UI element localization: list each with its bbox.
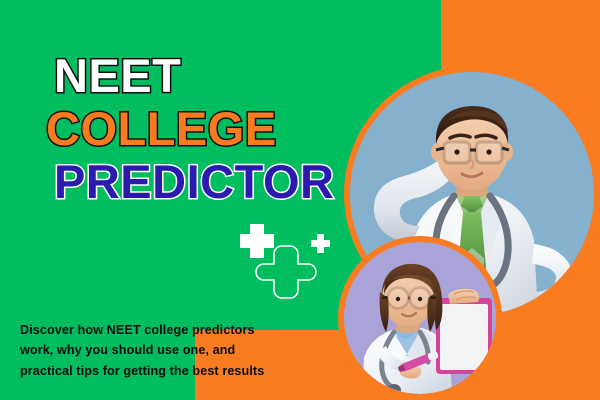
plus-outline-icon [256, 246, 316, 298]
headline-line-college: COLLEGE [46, 105, 376, 152]
subtitle-block: Discover how NEET college predictors wor… [20, 320, 320, 381]
plus-decorations [238, 216, 338, 311]
headline-line-neet: NEET [54, 52, 376, 99]
subtitle-line-3: practical tips for getting the best resu… [20, 361, 320, 381]
headline-block: NEET COLLEGE PREDICTOR [46, 52, 376, 205]
neet-college-predictor-banner: NEET COLLEGE PREDICTOR Discover how NEET… [0, 0, 600, 400]
headline-line-predictor: PREDICTOR [54, 158, 376, 205]
subtitle-line-1: Discover how NEET college predictors [20, 320, 320, 340]
female-doctor-circle [338, 236, 502, 400]
subtitle-line-2: work, why you should use one, and [20, 340, 320, 360]
plus-small-solid-icon [311, 234, 330, 253]
female-doctor-illustration [344, 242, 496, 394]
plus-solid-icon [240, 224, 274, 258]
